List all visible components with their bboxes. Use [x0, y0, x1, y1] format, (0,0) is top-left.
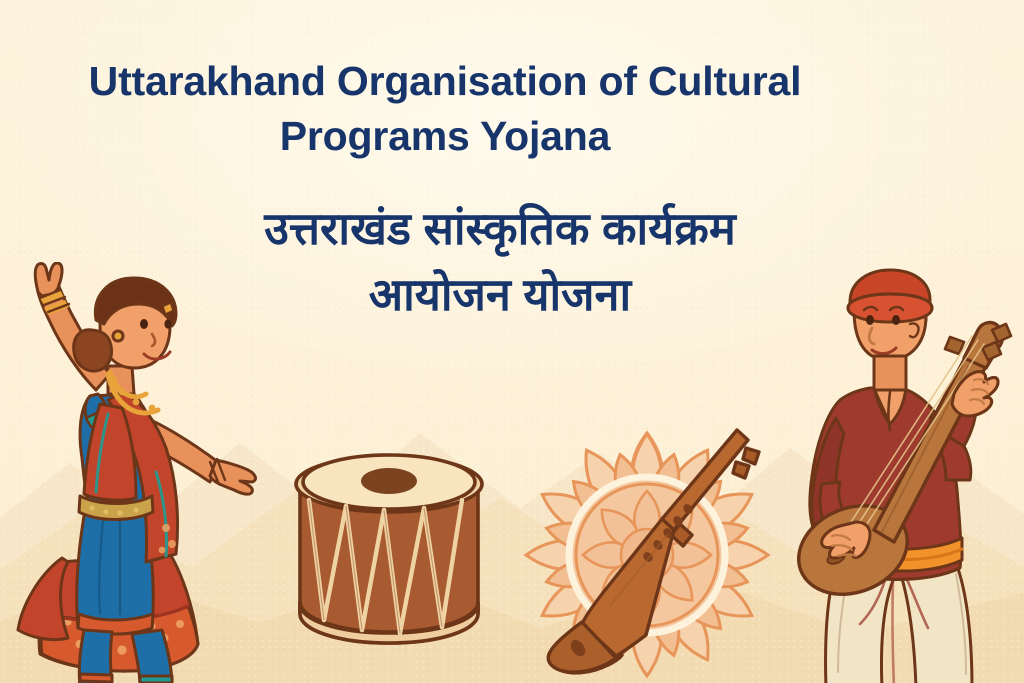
shehnai-horn	[540, 418, 780, 678]
hindi-title-line-2: आयोजन योजना	[0, 262, 1000, 328]
hindi-title-line-1: उत्तराखंड सांस्कृतिक कार्यक्रम	[0, 196, 1000, 262]
english-title-line-2: Programs Yojana	[0, 109, 890, 164]
english-title-block: Uttarakhand Organisation of Cultural Pro…	[0, 54, 890, 163]
dhol-drum	[276, 434, 502, 660]
hindi-title-block: उत्तराखंड सांस्कृतिक कार्यक्रम आयोजन योज…	[0, 196, 1000, 327]
english-title-line-1: Uttarakhand Organisation of Cultural	[0, 54, 890, 109]
male-musician-with-tanpura	[778, 268, 1024, 683]
poster-canvas: Uttarakhand Organisation of Cultural Pro…	[0, 0, 1024, 683]
